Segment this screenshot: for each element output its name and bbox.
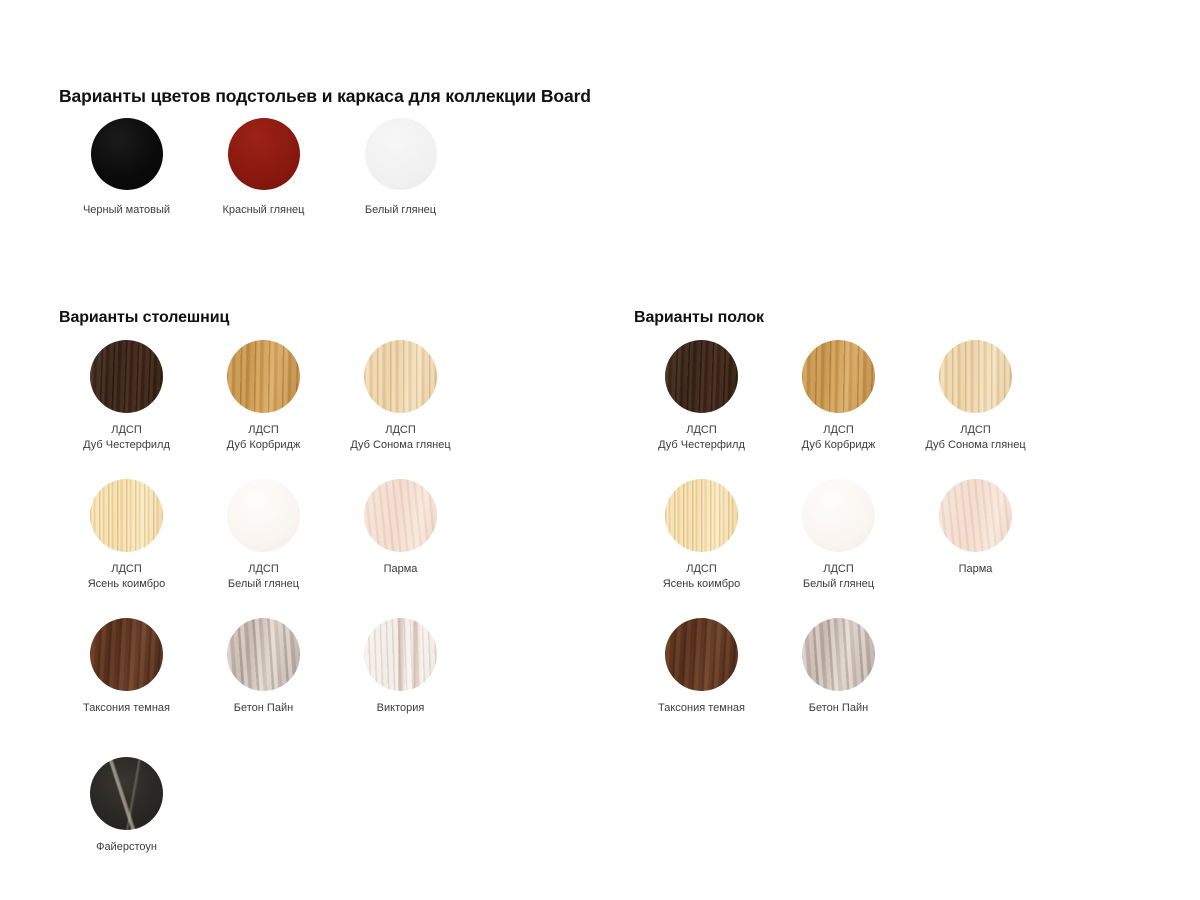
swatch-disc[interactable] bbox=[90, 340, 163, 413]
swatch-disc[interactable] bbox=[939, 340, 1012, 413]
swatch-disc[interactable] bbox=[228, 118, 300, 190]
swatch-label-primary: ЛДСП bbox=[111, 563, 142, 575]
color-swatch-item[interactable]: ЛДСПДуб Сонома глянец bbox=[332, 340, 469, 479]
swatch-label-primary: Черный матовый bbox=[83, 204, 170, 216]
swatch-caption: Парма bbox=[384, 562, 418, 577]
color-swatch-item[interactable]: Парма bbox=[332, 479, 469, 618]
color-swatch-item[interactable]: Парма bbox=[907, 479, 1044, 618]
swatch-label-primary: Красный глянец bbox=[223, 204, 305, 216]
color-options-page: Варианты цветов подстольев и каркаса для… bbox=[0, 0, 1200, 900]
swatch-label-primary: ЛДСП bbox=[686, 563, 717, 575]
swatch-label-primary: Бетон Пайн bbox=[234, 702, 293, 714]
table-tops-grid: ЛДСПДуб ЧестерфилдЛДСПДуб КорбриджЛДСПДу… bbox=[58, 340, 469, 896]
swatch-disc[interactable] bbox=[939, 479, 1012, 552]
swatch-caption: ЛДСПЯсень коимбро bbox=[88, 562, 166, 591]
swatch-caption: Таксония темная bbox=[83, 701, 170, 716]
section-title-table-tops: Варианты столешниц bbox=[59, 309, 229, 327]
swatch-label-primary: Парма bbox=[959, 563, 993, 575]
shelves-grid: ЛДСПДуб ЧестерфилдЛДСПДуб КорбриджЛДСПДу… bbox=[633, 340, 1044, 757]
color-swatch-item[interactable]: ЛДСПДуб Честерфилд bbox=[58, 340, 195, 479]
color-swatch-item[interactable]: ЛДСПДуб Корбридж bbox=[195, 340, 332, 479]
swatch-label-primary: Белый глянец bbox=[365, 204, 436, 216]
frame-color-grid: Черный матовыйКрасный глянецБелый глянец bbox=[58, 118, 469, 218]
swatch-label-secondary: Белый глянец bbox=[228, 577, 299, 592]
swatch-label-secondary: Дуб Сонома глянец bbox=[925, 438, 1025, 453]
swatch-label-secondary: Ясень коимбро bbox=[88, 577, 166, 592]
swatch-disc[interactable] bbox=[364, 340, 437, 413]
color-swatch-item[interactable]: Бетон Пайн bbox=[770, 618, 907, 757]
swatch-label-secondary: Дуб Сонома глянец bbox=[350, 438, 450, 453]
swatch-label-primary: Бетон Пайн bbox=[809, 702, 868, 714]
color-swatch-item[interactable]: ЛДСПЯсень коимбро bbox=[633, 479, 770, 618]
swatch-label-primary: ЛДСП bbox=[111, 424, 142, 436]
swatch-label-primary: Виктория bbox=[377, 702, 425, 714]
color-swatch-item[interactable]: ЛДСПЯсень коимбро bbox=[58, 479, 195, 618]
swatch-disc[interactable] bbox=[90, 757, 163, 830]
swatch-label-secondary: Дуб Честерфилд bbox=[83, 438, 170, 453]
swatch-disc[interactable] bbox=[90, 618, 163, 691]
swatch-disc[interactable] bbox=[90, 479, 163, 552]
color-swatch-item[interactable]: ЛДСПБелый глянец bbox=[770, 479, 907, 618]
swatch-label-secondary: Белый глянец bbox=[803, 577, 874, 592]
swatch-label-secondary: Дуб Корбридж bbox=[227, 438, 301, 453]
swatch-label-secondary: Дуб Честерфилд bbox=[658, 438, 745, 453]
swatch-label-primary: ЛДСП bbox=[823, 424, 854, 436]
swatch-caption: ЛДСПЯсень коимбро bbox=[663, 562, 741, 591]
swatch-caption: Таксония темная bbox=[658, 701, 745, 716]
swatch-caption: ЛДСПБелый глянец bbox=[228, 562, 299, 591]
color-swatch-item[interactable]: ЛДСПДуб Честерфилд bbox=[633, 340, 770, 479]
color-swatch-item[interactable]: Черный матовый bbox=[58, 118, 195, 218]
page-title: Варианты цветов подстольев и каркаса для… bbox=[59, 86, 591, 107]
swatch-label-secondary: Дуб Корбридж bbox=[802, 438, 876, 453]
swatch-caption: Красный глянец bbox=[223, 203, 305, 218]
color-swatch-item[interactable]: Виктория bbox=[332, 618, 469, 757]
swatch-caption: ЛДСПДуб Корбридж bbox=[227, 423, 301, 452]
swatch-disc[interactable] bbox=[665, 479, 738, 552]
color-swatch-item[interactable]: Таксония темная bbox=[58, 618, 195, 757]
swatch-disc[interactable] bbox=[227, 618, 300, 691]
swatch-label-primary: ЛДСП bbox=[248, 424, 279, 436]
swatch-caption: ЛДСПДуб Сонома глянец bbox=[925, 423, 1025, 452]
swatch-disc[interactable] bbox=[91, 118, 163, 190]
swatch-label-primary: ЛДСП bbox=[960, 424, 991, 436]
color-swatch-item[interactable]: Бетон Пайн bbox=[195, 618, 332, 757]
color-swatch-item[interactable]: ЛДСПДуб Сонома глянец bbox=[907, 340, 1044, 479]
swatch-caption: Бетон Пайн bbox=[234, 701, 293, 716]
swatch-caption: ЛДСПДуб Честерфилд bbox=[658, 423, 745, 452]
swatch-disc[interactable] bbox=[665, 618, 738, 691]
swatch-caption: Виктория bbox=[377, 701, 425, 716]
swatch-disc[interactable] bbox=[802, 479, 875, 552]
swatch-disc[interactable] bbox=[802, 340, 875, 413]
swatch-caption: Черный матовый bbox=[83, 203, 170, 218]
swatch-disc[interactable] bbox=[227, 479, 300, 552]
swatch-caption: Парма bbox=[959, 562, 993, 577]
swatch-label-secondary: Ясень коимбро bbox=[663, 577, 741, 592]
swatch-disc[interactable] bbox=[365, 118, 437, 190]
section-title-shelves: Варианты полок bbox=[634, 309, 764, 327]
color-swatch-item[interactable]: Файерстоун bbox=[58, 757, 195, 896]
swatch-label-primary: Таксония темная bbox=[83, 702, 170, 714]
color-swatch-item[interactable]: Белый глянец bbox=[332, 118, 469, 218]
swatch-caption: Бетон Пайн bbox=[809, 701, 868, 716]
swatch-label-primary: ЛДСП bbox=[248, 563, 279, 575]
color-swatch-item[interactable]: ЛДСПБелый глянец bbox=[195, 479, 332, 618]
swatch-caption: ЛДСПДуб Честерфилд bbox=[83, 423, 170, 452]
color-swatch-item[interactable]: Красный глянец bbox=[195, 118, 332, 218]
swatch-label-primary: Парма bbox=[384, 563, 418, 575]
swatch-label-primary: ЛДСП bbox=[385, 424, 416, 436]
swatch-label-primary: Файерстоун bbox=[96, 841, 157, 853]
swatch-caption: ЛДСПДуб Корбридж bbox=[802, 423, 876, 452]
swatch-caption: ЛДСПБелый глянец bbox=[803, 562, 874, 591]
swatch-caption: ЛДСПДуб Сонома глянец bbox=[350, 423, 450, 452]
swatch-label-primary: Таксония темная bbox=[658, 702, 745, 714]
swatch-disc[interactable] bbox=[665, 340, 738, 413]
swatch-disc[interactable] bbox=[364, 618, 437, 691]
color-swatch-item[interactable]: Таксония темная bbox=[633, 618, 770, 757]
swatch-disc[interactable] bbox=[364, 479, 437, 552]
swatch-label-primary: ЛДСП bbox=[686, 424, 717, 436]
swatch-label-primary: ЛДСП bbox=[823, 563, 854, 575]
swatch-caption: Белый глянец bbox=[365, 203, 436, 218]
swatch-disc[interactable] bbox=[802, 618, 875, 691]
swatch-disc[interactable] bbox=[227, 340, 300, 413]
swatch-caption: Файерстоун bbox=[96, 840, 157, 855]
color-swatch-item[interactable]: ЛДСПДуб Корбридж bbox=[770, 340, 907, 479]
